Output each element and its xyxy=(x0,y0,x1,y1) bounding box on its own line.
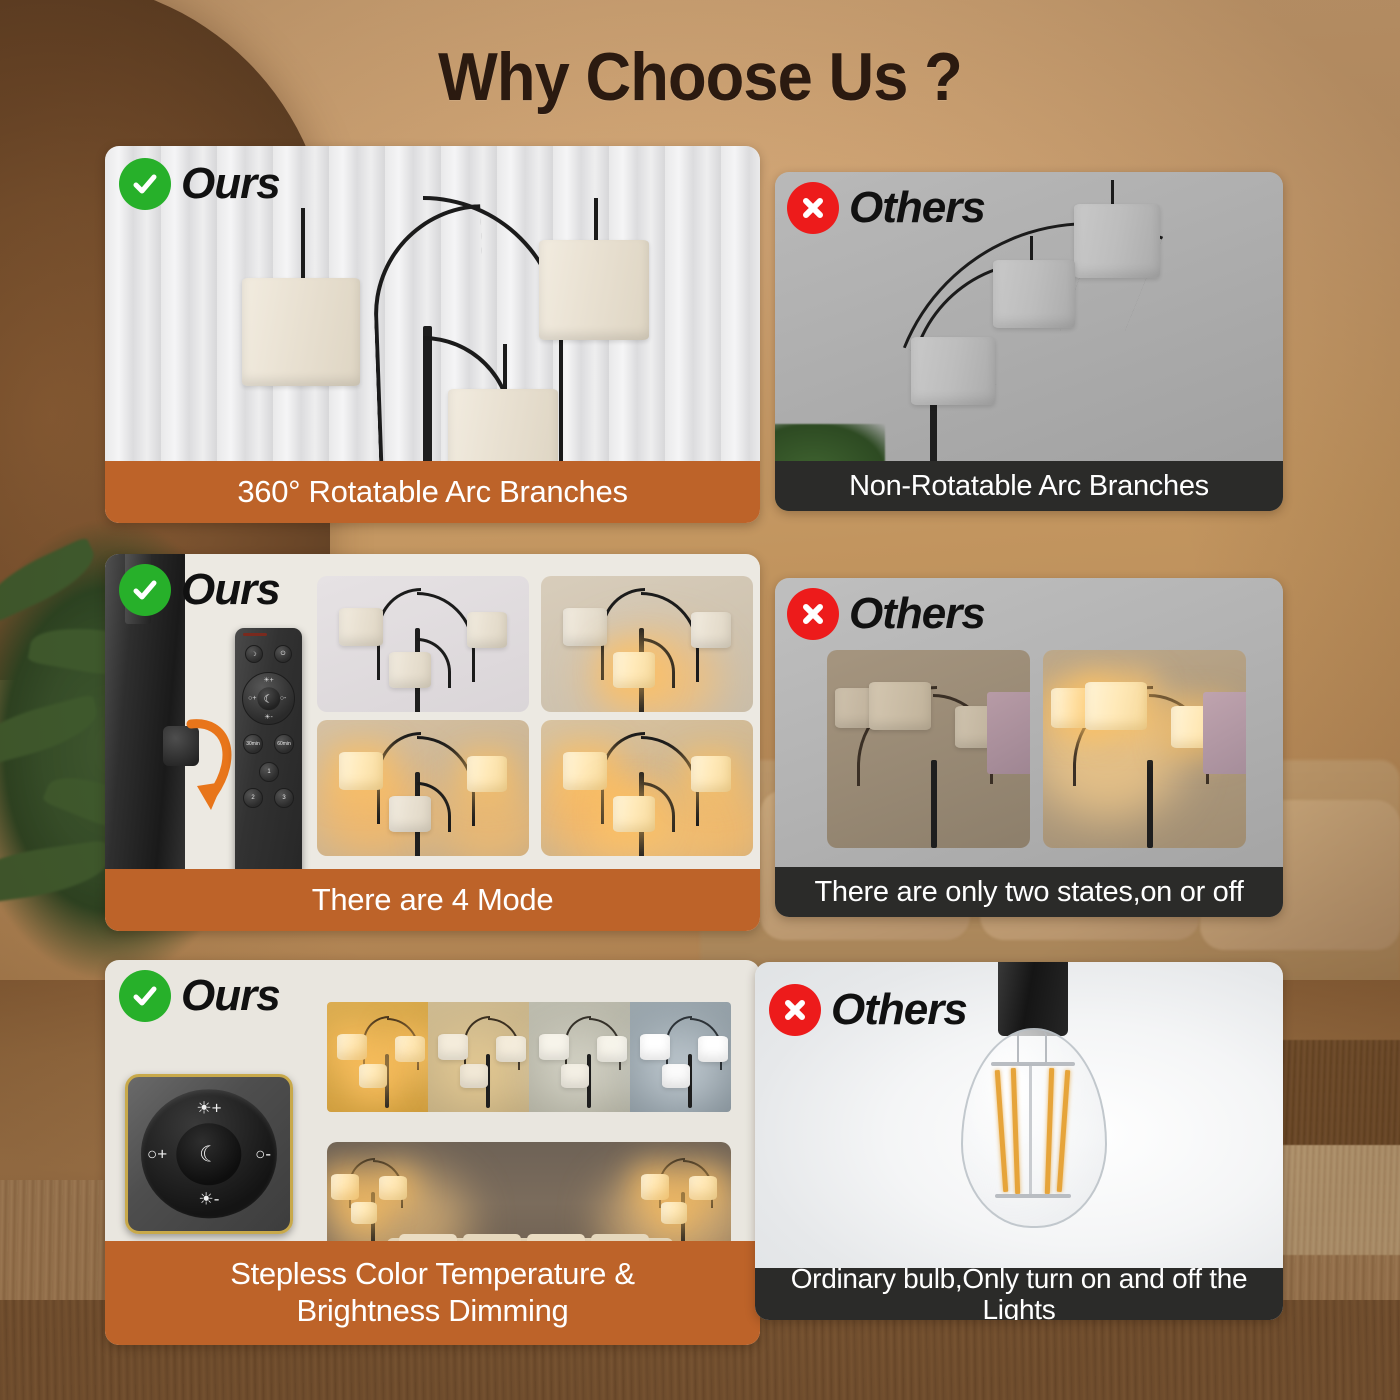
row-3-ours-badge-label: Ours xyxy=(181,971,280,1021)
row-2-others-badge: Others xyxy=(787,588,985,640)
check-circle-icon xyxy=(119,564,171,616)
row-2-ours-badge: Ours xyxy=(119,564,280,616)
remote-brightness-up-icon[interactable]: ☀+ xyxy=(263,676,273,684)
row-3-others-badge-label: Others xyxy=(831,985,967,1035)
row-1-others-badge-label: Others xyxy=(849,183,985,233)
cross-circle-icon xyxy=(787,182,839,234)
mode-photo-one-on xyxy=(541,576,753,712)
brightness-up-icon[interactable]: ☀+ xyxy=(196,1098,221,1118)
temp-swatch-cool xyxy=(630,1002,731,1112)
check-circle-icon xyxy=(119,158,171,210)
night-mode-icon[interactable]: ☾ xyxy=(176,1123,241,1185)
comparison-grid: Ours 360° Rotatable Arc Branches Others … xyxy=(0,0,1400,1400)
row-3-ours-panel: ☀+ ○+ ○- ☀- ☾ xyxy=(105,960,760,1345)
row-2-ours-badge-label: Ours xyxy=(181,565,280,615)
remote-night-mode-button[interactable]: ☾ xyxy=(257,687,280,710)
row-1-ours-badge: Ours xyxy=(119,158,280,210)
color-warm-down-icon[interactable]: ○- xyxy=(255,1144,271,1164)
remote-brightness-down-icon[interactable]: ☀- xyxy=(264,713,273,721)
remote-dial[interactable]: ☀+ ○+ ○- ☀- ☾ xyxy=(242,672,295,725)
cross-circle-icon xyxy=(769,984,821,1036)
row-1-ours-panel: Ours 360° Rotatable Arc Branches xyxy=(105,146,760,523)
state-photo-on xyxy=(1043,650,1246,848)
row-3-ours-badge: Ours xyxy=(119,970,280,1022)
row-2-others-badge-label: Others xyxy=(849,589,985,639)
row-3-others-panel: Others Ordinary bulb,Only turn on and of… xyxy=(755,962,1283,1320)
mode-photo-all-off xyxy=(317,576,529,712)
remote-control[interactable]: ☽ ⏻ ☀+ ○+ ○- ☀- ☾ 30min 60min 1 2 3 xyxy=(235,628,302,886)
remote-light-1-button[interactable]: 1 xyxy=(259,762,279,782)
temp-swatch-warm-amber xyxy=(327,1002,428,1112)
bulb-socket xyxy=(998,962,1068,1036)
temp-swatch-neutral xyxy=(529,1002,630,1112)
dimmer-ring[interactable]: ☀+ ○+ ○- ☀- ☾ xyxy=(141,1089,277,1218)
brightness-down-icon[interactable]: ☀- xyxy=(199,1190,220,1210)
row-1-ours-caption: 360° Rotatable Arc Branches xyxy=(105,461,760,523)
check-circle-icon xyxy=(119,970,171,1022)
row-1-others-caption: Non-Rotatable Arc Branches xyxy=(775,461,1283,511)
mode-photo-all-on xyxy=(541,720,753,856)
row-1-ours-badge-label: Ours xyxy=(181,159,280,209)
temp-swatch-warm-white xyxy=(428,1002,529,1112)
remote-sleep-button[interactable]: ☽ xyxy=(245,645,263,663)
row-3-others-caption: Ordinary bulb,Only turn on and off the L… xyxy=(755,1268,1283,1320)
row-2-others-caption: There are only two states,on or off xyxy=(775,867,1283,917)
cross-circle-icon xyxy=(787,588,839,640)
remote-timer-60min-button[interactable]: 60min xyxy=(274,734,294,754)
state-photo-off xyxy=(827,650,1030,848)
row-1-others-badge: Others xyxy=(787,182,985,234)
remote-light-3-button[interactable]: 3 xyxy=(274,788,294,808)
row-3-ours-caption-line-1: Stepless Color Temperature & xyxy=(230,1257,635,1292)
row-3-ours-caption-line-2: Brightness Dimming xyxy=(297,1294,569,1329)
color-warm-up-icon[interactable]: ○+ xyxy=(147,1144,167,1164)
row-3-others-badge: Others xyxy=(769,984,967,1036)
mode-photo-two-on xyxy=(317,720,529,856)
row-2-ours-caption: There are 4 Mode xyxy=(105,869,760,931)
color-temperature-strip xyxy=(327,1002,731,1112)
dimmer-pad[interactable]: ☀+ ○+ ○- ☀- ☾ xyxy=(125,1074,293,1234)
row-2-others-panel: Others There are only two states,on or o… xyxy=(775,578,1283,917)
remote-power-button[interactable]: ⏻ xyxy=(274,645,292,663)
row-1-others-panel: Others Non-Rotatable Arc Branches xyxy=(775,172,1283,511)
remote-warm-down-icon[interactable]: ○- xyxy=(280,695,287,702)
remote-warm-up-icon[interactable]: ○+ xyxy=(248,695,256,702)
remote-timer-30min-button[interactable]: 30min xyxy=(243,734,263,754)
row-2-ours-panel: ☽ ⏻ ☀+ ○+ ○- ☀- ☾ 30min 60min 1 2 3 xyxy=(105,554,760,931)
remote-light-2-button[interactable]: 2 xyxy=(243,788,263,808)
page-title: Why Choose Us ? xyxy=(49,38,1351,116)
row-3-ours-caption: Stepless Color Temperature & Brightness … xyxy=(105,1241,760,1345)
